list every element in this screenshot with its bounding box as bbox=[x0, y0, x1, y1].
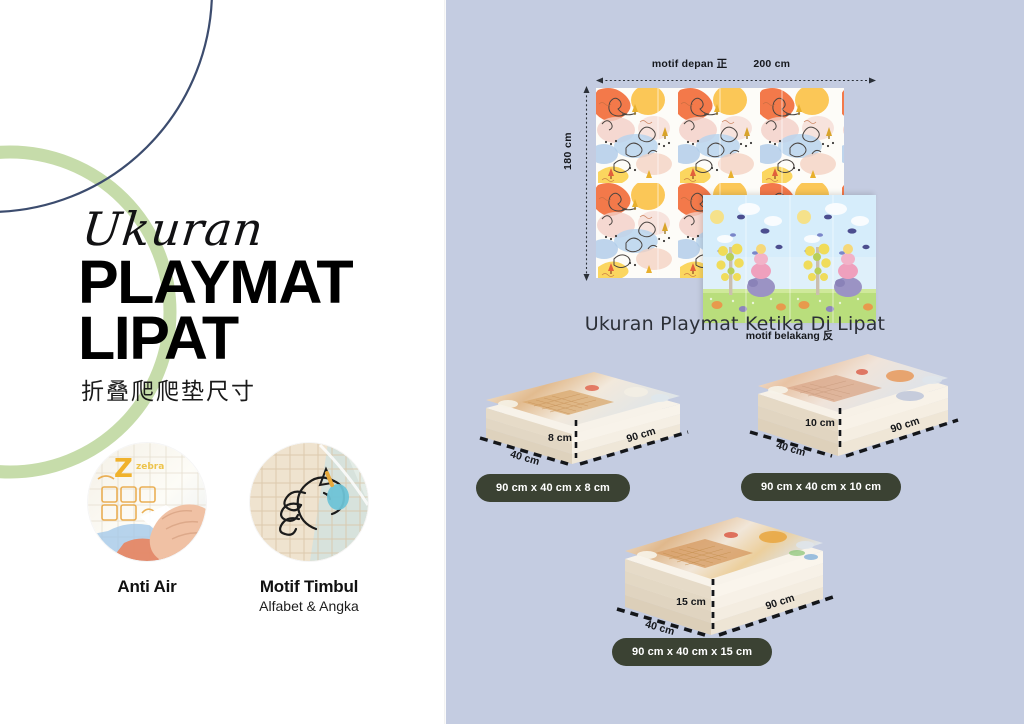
left-panel: Ukuran PLAYMAT LIPAT 折叠爬爬垫尺寸 bbox=[0, 0, 444, 724]
motif-depan-label: motif depan 正 bbox=[652, 58, 728, 70]
mat-back-image bbox=[703, 195, 876, 323]
folded-size-pill: 90 cm x 40 cm x 10 cm bbox=[741, 473, 901, 501]
svg-text:zebra: zebra bbox=[136, 462, 164, 472]
chinese-subtitle: 折叠爬爬垫尺寸 bbox=[81, 372, 408, 406]
folded-size-pill: 90 cm x 40 cm x 15 cm bbox=[612, 638, 772, 666]
folded-section-title: Ukuran Playmat Ketika Di Lipat bbox=[446, 313, 1024, 335]
script-title: Ukuran bbox=[80, 206, 413, 252]
svg-text:15 cm: 15 cm bbox=[676, 596, 706, 608]
mat-dimension-diagram: motif depan 正200 cm 180 cm bbox=[566, 56, 876, 306]
svg-text:10 cm: 10 cm bbox=[805, 417, 835, 429]
headline-line-2: LIPAT bbox=[78, 310, 408, 366]
folded-mat-8cm: 40 cm 90 cm 8 cm bbox=[464, 358, 704, 473]
width-arrow bbox=[596, 76, 876, 85]
feature-anti-air: Z zebra bbox=[88, 443, 206, 614]
poster-canvas: Ukuran PLAYMAT LIPAT 折叠爬爬垫尺寸 bbox=[0, 0, 1024, 724]
feature-list: Z zebra bbox=[88, 443, 388, 614]
title-block: Ukuran PLAYMAT LIPAT 折叠爬爬垫尺寸 bbox=[78, 206, 408, 406]
right-panel: motif depan 正200 cm 180 cm bbox=[446, 0, 1024, 724]
svg-text:Z: Z bbox=[114, 454, 133, 484]
feature-motif-timbul: Motif Timbul Alfabet & Angka bbox=[250, 443, 368, 614]
feature-sublabel: Alfabet & Angka bbox=[250, 598, 368, 614]
mat-width-label: 200 cm bbox=[753, 58, 790, 70]
folded-size-pill: 90 cm x 40 cm x 8 cm bbox=[476, 474, 630, 502]
embossed-unicorn-icon bbox=[250, 443, 368, 561]
height-arrow bbox=[582, 86, 591, 281]
waterproof-wipe-icon: Z zebra bbox=[88, 443, 206, 561]
headline-line-1: PLAYMAT bbox=[78, 254, 408, 310]
mat-top-labels: motif depan 正200 cm bbox=[566, 56, 876, 71]
folded-mat-10cm: 40 cm 90 cm 10 cm bbox=[734, 352, 974, 467]
feature-label: Motif Timbul bbox=[250, 577, 368, 597]
mat-height-label: 180 cm bbox=[562, 132, 574, 170]
svg-text:8 cm: 8 cm bbox=[548, 432, 572, 444]
folded-mat-15cm: 40 cm 90 cm 15 cm bbox=[601, 517, 851, 642]
navy-arc-circle bbox=[0, 0, 212, 212]
feature-label: Anti Air bbox=[88, 577, 206, 597]
